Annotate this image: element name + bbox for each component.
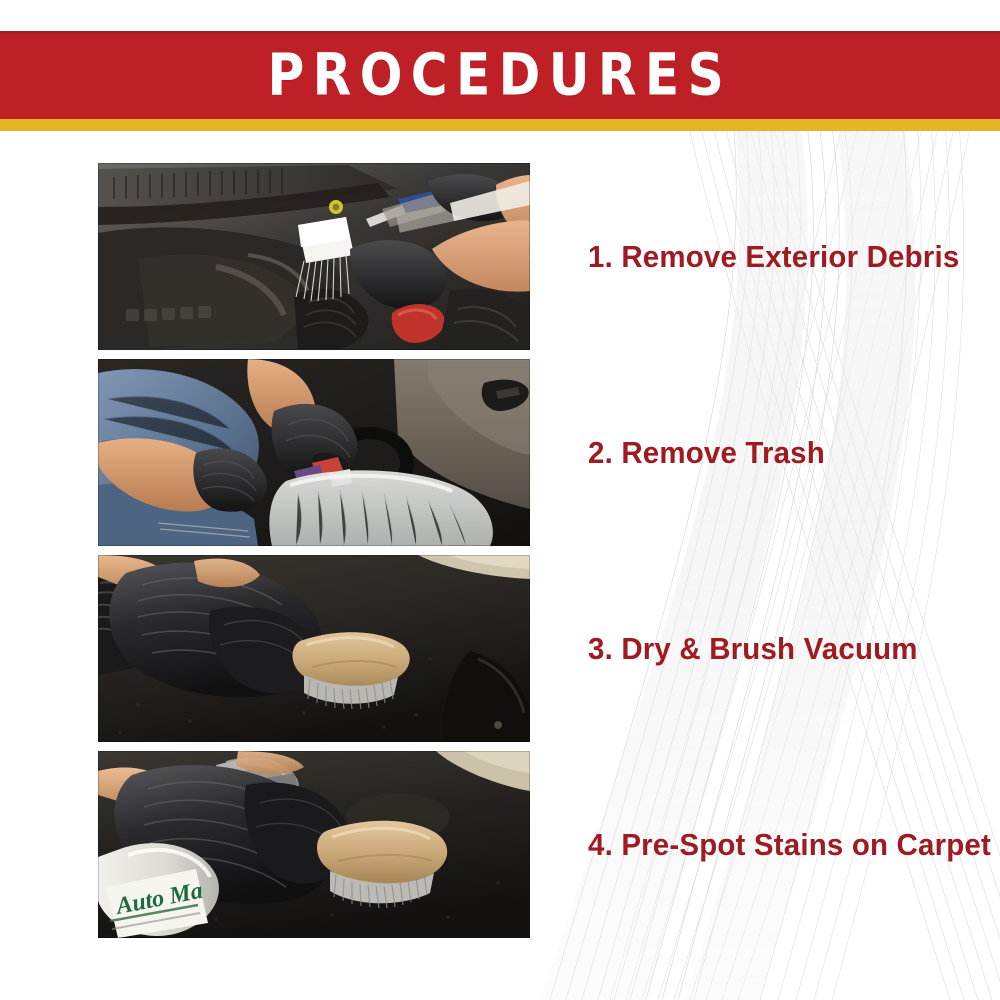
step-2-photo [98, 359, 530, 546]
procedure-steps-list: 1. Remove Exterior Debris [0, 163, 1000, 947]
step-3-label: 3. Dry & Brush Vacuum [588, 555, 918, 742]
procedures-page: PROCEDURES [0, 0, 1000, 1000]
page-title: PROCEDURES [268, 46, 733, 104]
step-2-label: 2. Remove Trash [588, 359, 825, 546]
step-4-photo: Auto Ma [98, 751, 530, 938]
step-3-photo [98, 555, 530, 742]
header-banner: PROCEDURES [0, 31, 1000, 119]
procedure-step-3: 3. Dry & Brush Vacuum [0, 555, 1000, 742]
step-1-photo [98, 163, 530, 350]
procedure-step-2: 2. Remove Trash [0, 359, 1000, 546]
procedure-step-1: 1. Remove Exterior Debris [0, 163, 1000, 350]
procedure-step-4: Auto Ma [0, 751, 1000, 938]
step-1-label: 1. Remove Exterior Debris [588, 163, 959, 350]
step-4-label: 4. Pre-Spot Stains on Carpet [588, 751, 991, 938]
header-gold-rule [0, 119, 1000, 131]
